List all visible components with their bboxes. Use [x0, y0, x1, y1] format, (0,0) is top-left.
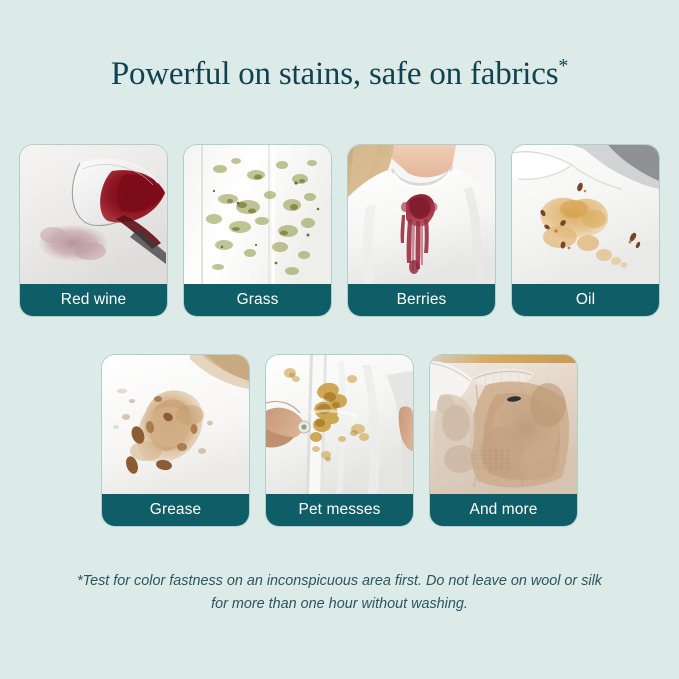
footnote-text: *Test for color fastness on an inconspic…	[0, 570, 679, 616]
stain-card-label: Red wine	[20, 284, 167, 316]
and-more-stain-photo	[430, 355, 577, 494]
page-title-text: Powerful on stains, safe on fabrics	[111, 56, 559, 92]
stain-card-label: Oil	[512, 284, 659, 316]
footnote-marker: *	[558, 55, 568, 77]
stain-card-berries[interactable]: Berries	[348, 145, 495, 316]
oil-stain-photo	[512, 145, 659, 284]
stain-card-label: And more	[430, 494, 577, 526]
stain-card-label: Grass	[184, 284, 331, 316]
stain-card-pet-messes[interactable]: Pet messes	[266, 355, 413, 526]
stain-card-label: Pet messes	[266, 494, 413, 526]
stain-card-label: Berries	[348, 284, 495, 316]
red-wine-stain-photo	[20, 145, 167, 284]
grease-stain-photo	[102, 355, 249, 494]
stain-card-label: Grease	[102, 494, 249, 526]
berry-stain-photo	[348, 145, 495, 284]
grass-stain-photo	[184, 145, 331, 284]
stain-card-grass[interactable]: Grass	[184, 145, 331, 316]
pet-mess-stain-photo	[266, 355, 413, 494]
stain-card-row-1: Red wine	[0, 145, 679, 316]
page-title: Powerful on stains, safe on fabrics*	[0, 54, 679, 94]
stain-card-and-more[interactable]: And more	[430, 355, 577, 526]
stain-card-oil[interactable]: Oil	[512, 145, 659, 316]
stain-card-row-2: Grease	[0, 355, 679, 526]
stain-card-red-wine[interactable]: Red wine	[20, 145, 167, 316]
stain-card-grease[interactable]: Grease	[102, 355, 249, 526]
promo-graphic: Powerful on stains, safe on fabrics*	[0, 0, 679, 679]
